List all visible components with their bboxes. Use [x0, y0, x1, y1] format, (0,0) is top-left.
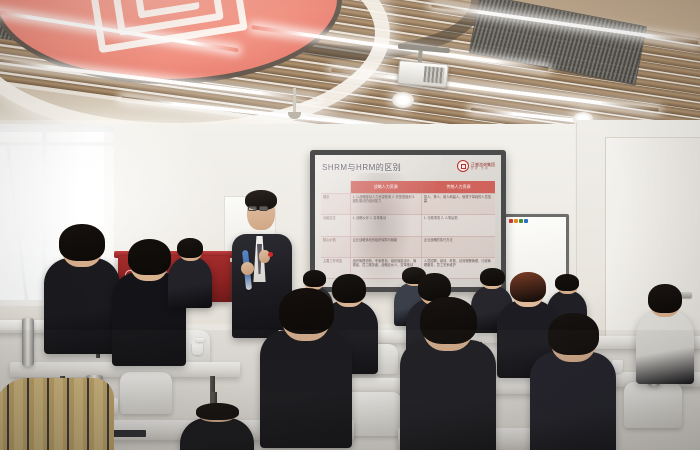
attendee-hair	[480, 268, 505, 286]
floor-shading	[0, 330, 700, 450]
attendee-hair	[332, 274, 366, 303]
attendee-hair	[555, 274, 579, 291]
attendee-hair	[59, 224, 105, 261]
attendee-hair	[303, 270, 326, 287]
attendee-hair	[510, 272, 546, 302]
attendee-front-3	[168, 256, 212, 308]
attendee-hair	[648, 284, 682, 313]
seminar-room-photo: SHRM与HRM的区别 正睿咨询集团 管 理 · 咨 询 战略人力资源传统人力资…	[0, 0, 700, 450]
attendee-hair	[177, 238, 203, 258]
attendee-hair	[128, 239, 171, 275]
attendee-torso	[168, 256, 212, 308]
attendee-hair	[279, 288, 334, 334]
